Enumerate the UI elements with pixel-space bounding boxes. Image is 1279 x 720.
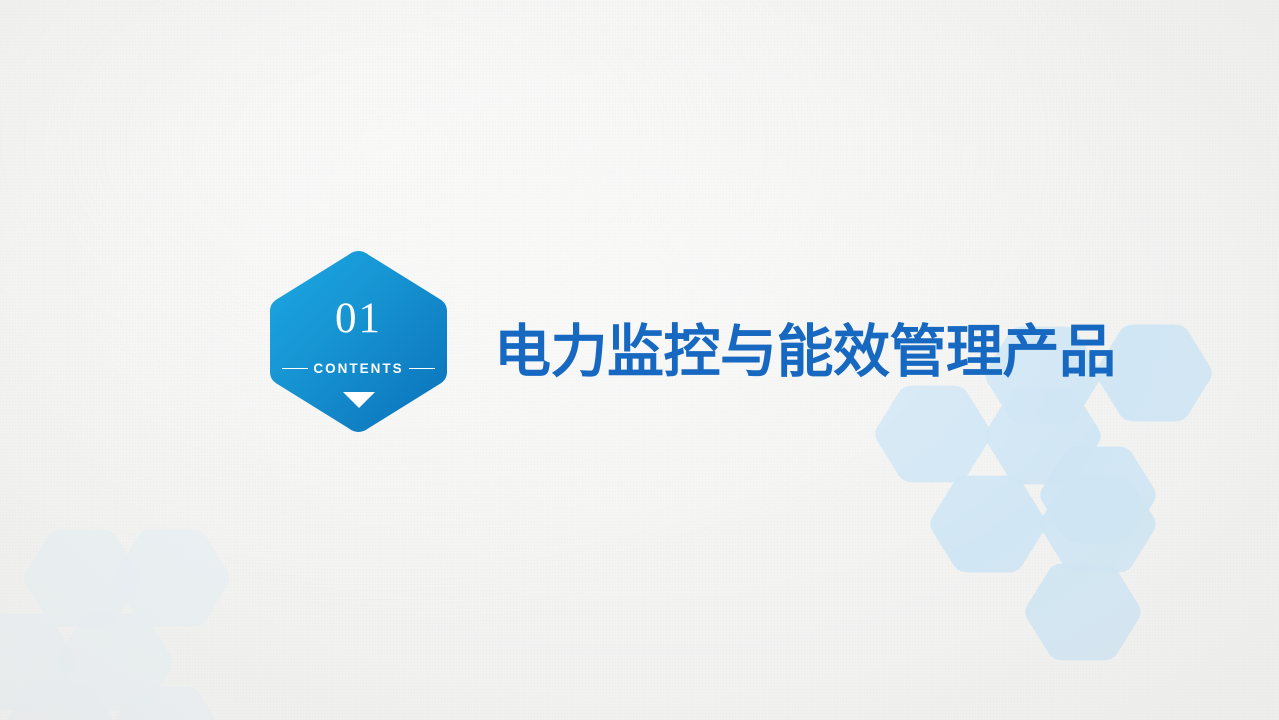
- hexagon-icon: [875, 386, 990, 483]
- presentation-slide: 01 CONTENTS 电力监控与能效管理产品: [0, 0, 1279, 720]
- hexagon-icon: [24, 530, 139, 627]
- hexagon-icon: [57, 614, 172, 711]
- triangle-down-icon: [343, 392, 375, 408]
- hexagon-icon: [1040, 476, 1155, 573]
- badge-contents-label: CONTENTS: [313, 361, 403, 376]
- badge-rule-left: [282, 368, 308, 369]
- slide-title: 电力监控与能效管理产品: [494, 324, 1116, 381]
- section-number-badge[interactable]: 01 CONTENTS: [268, 249, 449, 434]
- badge-contents-row: CONTENTS: [268, 361, 449, 376]
- hexagon-icon: [114, 530, 229, 627]
- badge-rule-right: [409, 368, 435, 369]
- hexagon-icon: [2, 682, 117, 720]
- hexagon-icon: [1040, 447, 1155, 544]
- hexagon-icon: [985, 388, 1100, 485]
- hexagon-icon: [0, 614, 76, 711]
- hexagon-icon: [1025, 564, 1140, 661]
- hexagon-icon: [107, 687, 222, 720]
- hexagon-icon: [930, 476, 1045, 573]
- badge-number: 01: [268, 297, 449, 340]
